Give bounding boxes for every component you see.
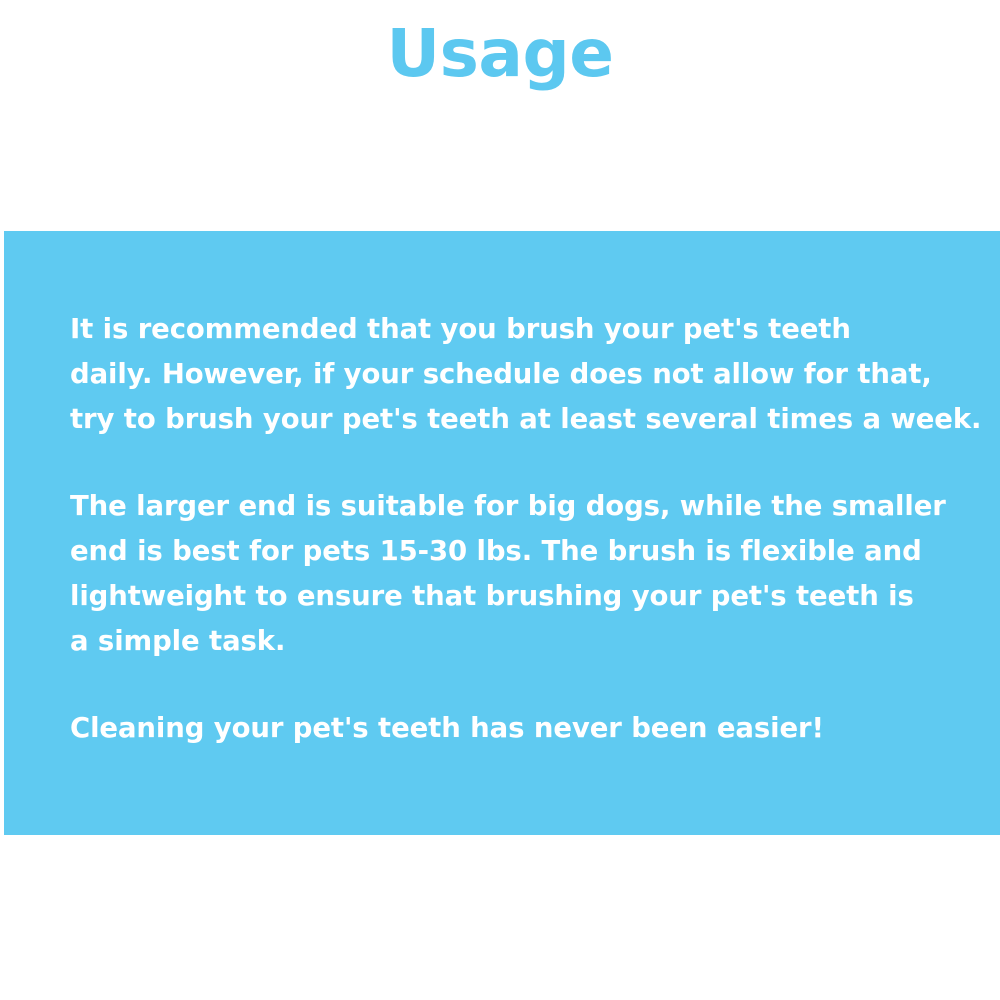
paragraph-sizing: The larger end is suitable for big dogs,… [70,484,960,664]
paragraph-line: Cleaning your pet's teeth has never been… [70,706,960,751]
paragraph-line: The larger end is suitable for big dogs,… [70,484,960,529]
paragraph-line: try to brush your pet's teeth at least s… [70,397,960,442]
product-usage-page: Usage It is recommended that you brush y… [0,0,1000,1000]
usage-copy: It is recommended that you brush your pe… [70,307,960,751]
page-title: Usage [387,18,614,90]
usage-content-panel: It is recommended that you brush your pe… [4,231,1000,835]
paragraph-line: a simple task. [70,619,960,664]
paragraph-line: It is recommended that you brush your pe… [70,307,960,352]
paragraph-frequency: It is recommended that you brush your pe… [70,307,960,442]
paragraph-line: end is best for pets 15-30 lbs. The brus… [70,529,960,574]
paragraph-closing: Cleaning your pet's teeth has never been… [70,706,960,751]
paragraph-line: lightweight to ensure that brushing your… [70,574,960,619]
title-block: Usage [0,18,1000,90]
paragraph-line: daily. However, if your schedule does no… [70,352,960,397]
